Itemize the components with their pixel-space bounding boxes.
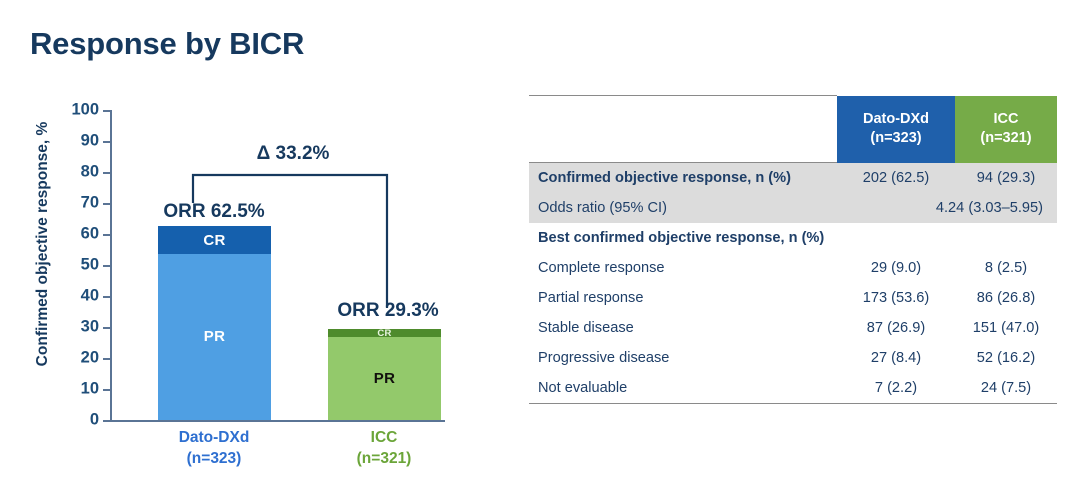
table-header-blank xyxy=(529,96,837,163)
y-tick-label: 0 xyxy=(90,411,99,430)
page-title: Response by BICR xyxy=(30,26,304,62)
x-category-name: ICC xyxy=(357,428,412,449)
table-row: Complete response 29 (9.0) 8 (2.5) xyxy=(529,253,1057,283)
row-value-span: 4.24 (3.03–5.95) xyxy=(837,193,1057,223)
row-label: Best confirmed objective response, n (%) xyxy=(529,223,837,253)
y-tick-label: 50 xyxy=(81,256,99,275)
x-category-name: Dato-DXd xyxy=(179,428,250,449)
y-tick-label: 10 xyxy=(81,380,99,399)
row-value-dato xyxy=(837,223,955,253)
row-value-icc xyxy=(955,223,1057,253)
table-row: Partial response 173 (53.6) 86 (26.8) xyxy=(529,283,1057,313)
row-value-dato: 173 (53.6) xyxy=(837,283,955,313)
y-tick-label: 90 xyxy=(81,132,99,151)
row-label: Odds ratio (95% CI) xyxy=(529,193,837,223)
table-row: Stable disease 87 (26.9) 151 (47.0) xyxy=(529,313,1057,343)
table-header-icc: ICC (n=321) xyxy=(955,96,1057,163)
chart-plot-area: 100 90 80 70 60 50 40 30 20 10 0 CR PR C… xyxy=(110,110,445,420)
row-value-icc: 52 (16.2) xyxy=(955,343,1057,373)
bar-segment-cr-dato[interactable]: CR xyxy=(158,226,271,254)
table-row: Not evaluable 7 (2.2) 24 (7.5) xyxy=(529,373,1057,404)
row-value-icc: 24 (7.5) xyxy=(955,373,1057,404)
y-tick-label: 40 xyxy=(81,287,99,306)
row-label: Stable disease xyxy=(529,313,837,343)
bar-segment-label: CR xyxy=(203,232,225,249)
y-tick-label: 80 xyxy=(81,163,99,182)
table-row: Odds ratio (95% CI) 4.24 (3.03–5.95) xyxy=(529,193,1057,223)
row-value-dato: 29 (9.0) xyxy=(837,253,955,283)
response-chart: Confirmed objective response, % 100 90 8… xyxy=(0,95,500,489)
y-axis-line xyxy=(110,110,112,420)
bar-segment-cr-icc[interactable]: CR xyxy=(328,329,441,337)
bar-segment-label: PR xyxy=(374,370,395,387)
table-header-name: ICC xyxy=(955,110,1057,129)
table-row: Best confirmed objective response, n (%) xyxy=(529,223,1057,253)
bar-icc[interactable]: CR PR xyxy=(328,329,441,420)
row-value-icc: 86 (26.8) xyxy=(955,283,1057,313)
row-value-dato: 202 (62.5) xyxy=(837,163,955,194)
row-value-icc: 8 (2.5) xyxy=(955,253,1057,283)
table-row: Confirmed objective response, n (%) 202 … xyxy=(529,163,1057,194)
table-header-dato-dxd: Dato-DXd (n=323) xyxy=(837,96,955,163)
y-tick-label: 100 xyxy=(71,101,99,120)
row-value-dato: 27 (8.4) xyxy=(837,343,955,373)
response-table: Dato-DXd (n=323) ICC (n=321) Confirmed o… xyxy=(529,95,1057,404)
row-value-dato: 7 (2.2) xyxy=(837,373,955,404)
bar-segment-label: PR xyxy=(204,328,225,345)
row-label: Partial response xyxy=(529,283,837,313)
x-axis-line xyxy=(110,420,445,422)
table-row: Progressive disease 27 (8.4) 52 (16.2) xyxy=(529,343,1057,373)
y-axis-title: Confirmed objective response, % xyxy=(34,84,52,404)
bar-dato-dxd[interactable]: CR PR xyxy=(158,226,271,420)
y-tick-label: 60 xyxy=(81,225,99,244)
table-header-n: (n=323) xyxy=(837,129,955,148)
row-value-icc: 94 (29.3) xyxy=(955,163,1057,194)
row-value-icc: 151 (47.0) xyxy=(955,313,1057,343)
table-header-row: Dato-DXd (n=323) ICC (n=321) xyxy=(529,96,1057,163)
x-category-icc: ICC (n=321) xyxy=(357,428,412,470)
row-label: Progressive disease xyxy=(529,343,837,373)
row-label: Confirmed objective response, n (%) xyxy=(529,163,837,194)
orr-label-dato: ORR 62.5% xyxy=(163,201,264,223)
table-header-name: Dato-DXd xyxy=(837,110,955,129)
orr-label-icc: ORR 29.3% xyxy=(337,300,438,322)
x-category-dato-dxd: Dato-DXd (n=323) xyxy=(179,428,250,470)
delta-label: Δ 33.2% xyxy=(257,143,330,165)
y-tick-label: 20 xyxy=(81,349,99,368)
x-category-n: (n=321) xyxy=(357,449,412,470)
bar-segment-pr-dato[interactable]: PR xyxy=(158,254,271,420)
table-header-n: (n=321) xyxy=(955,129,1057,148)
y-tick-label: 30 xyxy=(81,318,99,337)
row-label: Not evaluable xyxy=(529,373,837,404)
x-category-n: (n=323) xyxy=(179,449,250,470)
row-label: Complete response xyxy=(529,253,837,283)
y-tick-label: 70 xyxy=(81,194,99,213)
bar-segment-pr-icc[interactable]: PR xyxy=(328,337,441,420)
row-value-dato: 87 (26.9) xyxy=(837,313,955,343)
